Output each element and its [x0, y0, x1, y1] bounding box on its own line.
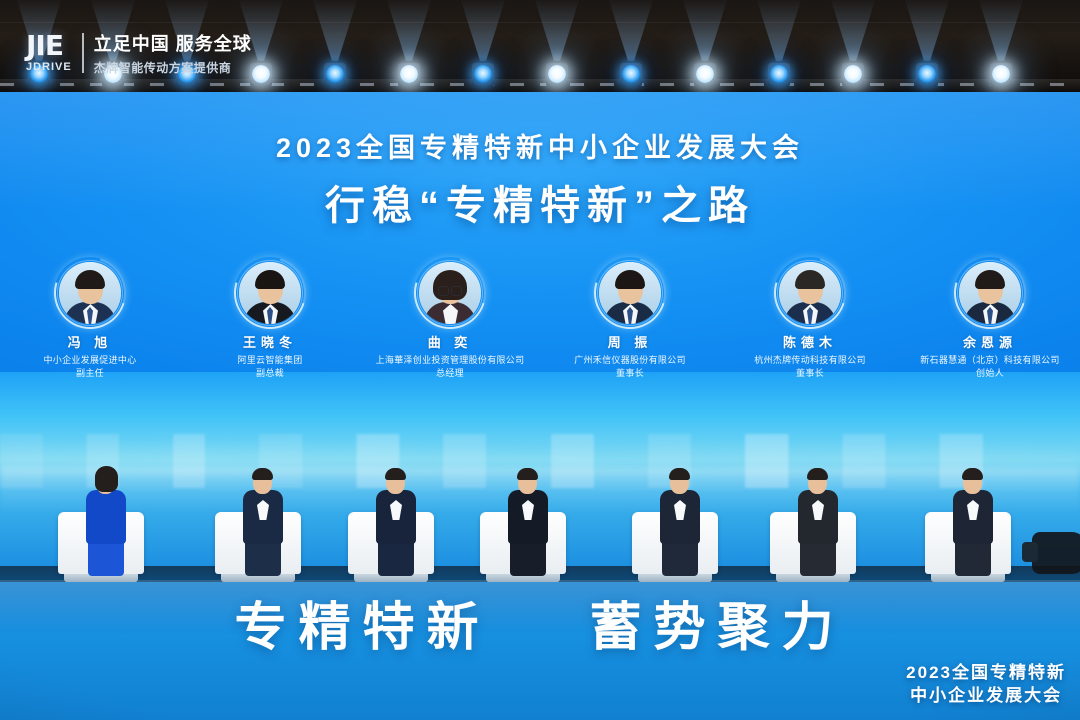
brand-logo-main: JIE — [26, 33, 72, 60]
speaker-card-4: 周 振广州禾信仪器股份有限公司董事长 — [540, 262, 720, 380]
moving-head-light — [840, 53, 866, 87]
brand-logo-sub: JDRIVE — [26, 61, 72, 73]
moving-head-light — [692, 53, 718, 87]
light-beam — [828, 0, 878, 61]
speaker-name: 冯 旭 — [0, 332, 180, 351]
headline-line-2: 行稳“专精特新”之路 — [0, 173, 1080, 231]
speaker-organization: 阿里云智能集团 — [180, 354, 360, 367]
corner-logo-line-1: 2023全国专精特新 — [906, 662, 1066, 683]
headline-line-1: 2023全国专精特新中小企业发展大会 — [0, 126, 1080, 165]
moving-head-light — [988, 53, 1014, 87]
corner-logo-line-2: 中小企业发展大会 — [906, 685, 1066, 706]
speaker-organization: 广州禾信仪器股份有限公司 — [540, 354, 720, 367]
panelist-row — [0, 430, 1080, 580]
panelist-2 — [215, 440, 311, 580]
panelist-hair — [669, 468, 690, 480]
panelist-4 — [480, 440, 576, 580]
speaker-title: 董事长 — [540, 367, 720, 380]
light-lens — [548, 65, 566, 83]
light-lens — [400, 65, 418, 83]
moving-head-light — [322, 53, 348, 87]
speaker-card-2: 王晓冬阿里云智能集团副总裁 — [180, 262, 360, 380]
speaker-portrait — [419, 262, 481, 324]
speaker-card-5: 陈德木杭州杰牌传动科技有限公司董事长 — [720, 262, 900, 380]
speaker-portrait — [779, 262, 841, 324]
light-lens — [696, 65, 714, 83]
speaker-card-1: 冯 旭中小企业发展促进中心副主任 — [0, 262, 180, 380]
panelist-6 — [770, 440, 866, 580]
event-headline: 2023全国专精特新中小企业发展大会 行稳“专精特新”之路 — [0, 126, 1080, 231]
light-beam — [458, 0, 508, 61]
brand-logo-block: JIE JDRIVE 立足中国 服务全球 杰牌智能传动方案提供商 — [26, 30, 252, 76]
speaker-card-3: 曲 奕上海華泽创业投资管理股份有限公司总经理 — [360, 262, 540, 380]
broadcast-camera — [1032, 532, 1080, 574]
stage-banner-left: 专精特新 — [235, 599, 491, 657]
speaker-organization: 中小企业发展促进中心 — [0, 354, 180, 367]
stage-front-banner: 专精特新 蓄势聚力 — [0, 585, 1080, 660]
light-beam — [754, 0, 804, 61]
speaker-title: 副总裁 — [180, 367, 360, 380]
speaker-portrait — [59, 262, 121, 324]
light-lens — [918, 65, 936, 83]
panelist-hair — [95, 466, 118, 492]
panelist-5 — [632, 440, 728, 580]
panelist-torso — [86, 490, 126, 544]
speaker-name: 王晓冬 — [180, 332, 360, 351]
speaker-title: 董事长 — [720, 367, 900, 380]
light-beam — [310, 0, 360, 61]
brand-tagline-primary: 立足中国 服务全球 — [94, 30, 252, 56]
stage-banner-right: 蓄势聚力 — [589, 599, 845, 657]
conference-stage-photo: JIE JDRIVE 立足中国 服务全球 杰牌智能传动方案提供商 2023全国专… — [0, 0, 1080, 720]
moving-head-light — [618, 53, 644, 87]
light-beam — [384, 0, 434, 61]
moving-head-light — [248, 53, 274, 87]
light-beam — [680, 0, 730, 61]
speaker-title: 创始人 — [900, 367, 1080, 380]
moving-head-light — [544, 53, 570, 87]
brand-divider — [82, 33, 84, 73]
speaker-name: 陈德木 — [720, 332, 900, 351]
panelist-7 — [925, 440, 1021, 580]
panelist-3 — [348, 440, 444, 580]
light-lens — [770, 65, 788, 83]
light-beam — [976, 0, 1026, 61]
panelist-hair — [807, 468, 828, 480]
speaker-organization: 新石器慧通（北京）科技有限公司 — [900, 354, 1080, 367]
speaker-name: 余恩源 — [900, 332, 1080, 351]
speaker-title: 副主任 — [0, 367, 180, 380]
speaker-portrait — [959, 262, 1021, 324]
moving-head-light — [470, 53, 496, 87]
speaker-portrait-strip: 冯 旭中小企业发展促进中心副主任王晓冬阿里云智能集团副总裁曲 奕上海華泽创业投资… — [0, 262, 1080, 380]
moving-head-light — [914, 53, 940, 87]
speaker-name: 曲 奕 — [360, 332, 540, 351]
moving-head-light — [766, 53, 792, 87]
corner-event-logo: 2023全国专精特新 中小企业发展大会 — [906, 662, 1066, 707]
light-lens — [252, 65, 270, 83]
brand-tagline-secondary: 杰牌智能传动方案提供商 — [94, 59, 252, 76]
speaker-card-6: 余恩源新石器慧通（北京）科技有限公司创始人 — [900, 262, 1080, 380]
speaker-organization: 杭州杰牌传动科技有限公司 — [720, 354, 900, 367]
light-beam — [902, 0, 952, 61]
light-lens — [474, 65, 492, 83]
speaker-name: 周 振 — [540, 332, 720, 351]
light-lens — [844, 65, 862, 83]
light-lens — [992, 65, 1010, 83]
speaker-portrait — [599, 262, 661, 324]
light-beam — [606, 0, 656, 61]
moving-head-light — [396, 53, 422, 87]
panelist-hair — [385, 468, 406, 480]
speaker-organization: 上海華泽创业投资管理股份有限公司 — [360, 354, 540, 367]
speaker-portrait — [239, 262, 301, 324]
light-lens — [622, 65, 640, 83]
brand-tagline-block: 立足中国 服务全球 杰牌智能传动方案提供商 — [94, 30, 252, 76]
light-beam — [532, 0, 582, 61]
jie-logo-mark: JIE JDRIVE — [26, 33, 72, 73]
panelist-hair — [962, 468, 983, 480]
light-lens — [326, 65, 344, 83]
panelist-hair — [252, 468, 273, 480]
panelist-hair — [517, 468, 538, 480]
speaker-title: 总经理 — [360, 367, 540, 380]
panelist-1 — [58, 440, 154, 580]
